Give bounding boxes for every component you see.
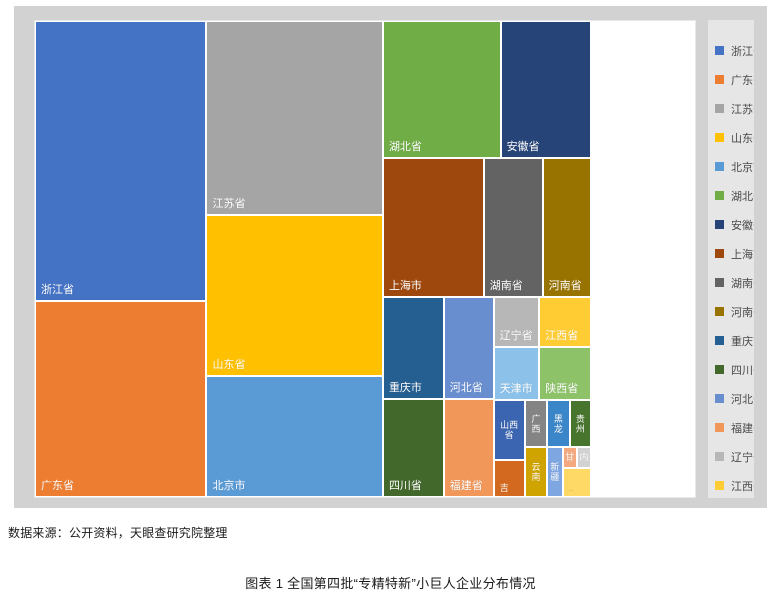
legend-item-label: 福建省 bbox=[731, 420, 754, 436]
treemap-tile[interactable]: 浙江省 bbox=[35, 21, 206, 301]
treemap-tile[interactable]: 贵州 bbox=[570, 400, 592, 447]
treemap-tile[interactable]: 山东省 bbox=[206, 215, 382, 376]
legend-swatch-icon bbox=[715, 394, 724, 403]
treemap-tile[interactable]: 河南省 bbox=[543, 158, 592, 296]
treemap-tile[interactable]: 重庆市 bbox=[383, 297, 444, 399]
plot-area: 浙江省广东省江苏省山东省北京市湖北省安徽省上海市湖南省河南省重庆市四川省河北省福… bbox=[34, 20, 696, 498]
treemap-tile[interactable]: 吉 bbox=[494, 460, 525, 497]
legend-item-label: 四川省 bbox=[731, 362, 754, 378]
treemap-tile[interactable]: 辽宁省 bbox=[494, 297, 540, 347]
legend-swatch-icon bbox=[715, 133, 724, 142]
treemap-tile-label: 湖北省 bbox=[389, 141, 422, 154]
treemap-tile-label: 山东省 bbox=[212, 359, 245, 372]
treemap-tile-label: 天津市 bbox=[500, 383, 533, 396]
legend-item[interactable]: 江苏省 bbox=[708, 94, 754, 123]
treemap-tile[interactable]: 天津市 bbox=[494, 347, 540, 401]
treemap-tile[interactable]: 河北省 bbox=[444, 297, 494, 399]
legend-item-label: 浙江省 bbox=[731, 43, 754, 59]
treemap-tile-label: 广东省 bbox=[41, 480, 74, 493]
treemap-tile[interactable]: 四川省 bbox=[383, 399, 444, 497]
chart-panel: 浙江省广东省江苏省山东省北京市湖北省安徽省上海市湖南省河南省重庆市四川省河北省福… bbox=[14, 6, 767, 508]
treemap-tile-label: 山西省 bbox=[496, 420, 523, 440]
legend-item-label: 江苏省 bbox=[731, 101, 754, 117]
legend-item[interactable]: 江西省 bbox=[708, 471, 754, 498]
legend-swatch-icon bbox=[715, 365, 724, 374]
legend-item[interactable]: 安徽省 bbox=[708, 210, 754, 239]
treemap-tile-label: 吉 bbox=[500, 483, 509, 493]
treemap-tile-label: 重庆市 bbox=[389, 382, 422, 395]
legend-item-label: 重庆市 bbox=[731, 333, 754, 349]
legend-item[interactable]: 上海市 bbox=[708, 239, 754, 268]
legend-item-label: 湖南省 bbox=[731, 275, 754, 291]
treemap-tile[interactable]: 安徽省 bbox=[501, 21, 592, 158]
legend-item[interactable]: 湖北省 bbox=[708, 181, 754, 210]
treemap-tile-label: 黑龙 bbox=[554, 414, 563, 434]
legend-item-label: 安徽省 bbox=[731, 217, 754, 233]
legend-item-label: 河北省 bbox=[731, 391, 754, 407]
legend-item[interactable]: 山东省 bbox=[708, 123, 754, 152]
treemap-chart: 浙江省广东省江苏省山东省北京市湖北省安徽省上海市湖南省河南省重庆市四川省河北省福… bbox=[35, 21, 695, 497]
treemap-tile[interactable]: 上海市 bbox=[383, 158, 484, 296]
treemap-tile-label: 江苏省 bbox=[212, 198, 245, 211]
chart-legend: 浙江省广东省江苏省山东省北京市湖北省安徽省上海市湖南省河南省重庆市四川省河北省福… bbox=[708, 20, 754, 498]
treemap-tile[interactable]: 广东省 bbox=[35, 301, 206, 497]
legend-item-label: 北京市 bbox=[731, 159, 754, 175]
treemap-tile[interactable]: 黑龙 bbox=[547, 400, 569, 447]
legend-swatch-icon bbox=[715, 191, 724, 200]
legend-list: 浙江省广东省江苏省山东省北京市湖北省安徽省上海市湖南省河南省重庆市四川省河北省福… bbox=[708, 36, 754, 498]
legend-swatch-icon bbox=[715, 162, 724, 171]
legend-swatch-icon bbox=[715, 220, 724, 229]
treemap-tile[interactable]: 云南 bbox=[525, 447, 547, 497]
legend-swatch-icon bbox=[715, 46, 724, 55]
legend-item[interactable]: 重庆市 bbox=[708, 326, 754, 355]
legend-swatch-icon bbox=[715, 307, 724, 316]
treemap-tile-label: 辽宁省 bbox=[500, 330, 533, 343]
legend-item-label: 山东省 bbox=[731, 130, 754, 146]
treemap-tile-label: 湖南省 bbox=[490, 280, 523, 293]
treemap-tile[interactable]: 内 bbox=[577, 447, 591, 468]
treemap-tile-label: 河南省 bbox=[549, 280, 582, 293]
treemap-tile[interactable]: 湖南省 bbox=[484, 158, 543, 296]
legend-item[interactable]: 广东省 bbox=[708, 65, 754, 94]
treemap-tile-label: 四川省 bbox=[389, 480, 422, 493]
treemap-tile-label: 甘 bbox=[565, 452, 574, 462]
treemap-tile[interactable]: 广西 bbox=[525, 400, 547, 447]
treemap-tile[interactable]: … bbox=[563, 468, 591, 497]
treemap-tile[interactable]: 甘 bbox=[563, 447, 577, 468]
legend-swatch-icon bbox=[715, 336, 724, 345]
treemap-tile-label: 上海市 bbox=[389, 280, 422, 293]
legend-item-label: 河南省 bbox=[731, 304, 754, 320]
legend-item[interactable]: 福建省 bbox=[708, 413, 754, 442]
legend-swatch-icon bbox=[715, 481, 724, 490]
legend-item-label: 辽宁省 bbox=[731, 449, 754, 465]
legend-item-label: 湖北省 bbox=[731, 188, 754, 204]
legend-item-label: 上海市 bbox=[731, 246, 754, 262]
treemap-tile[interactable]: 江西省 bbox=[539, 297, 591, 347]
legend-item-label: 广东省 bbox=[731, 72, 754, 88]
treemap-tile[interactable]: 陕西省 bbox=[539, 347, 591, 401]
treemap-tile[interactable]: 湖北省 bbox=[383, 21, 501, 158]
legend-item-label: 江西省 bbox=[731, 478, 754, 494]
legend-swatch-icon bbox=[715, 278, 724, 287]
legend-swatch-icon bbox=[715, 75, 724, 84]
legend-swatch-icon bbox=[715, 423, 724, 432]
treemap-tile[interactable]: 北京市 bbox=[206, 376, 382, 497]
legend-item[interactable]: 四川省 bbox=[708, 355, 754, 384]
legend-swatch-icon bbox=[715, 452, 724, 461]
legend-swatch-icon bbox=[715, 104, 724, 113]
treemap-tile-label: 云南 bbox=[531, 462, 540, 482]
treemap-tile-label: 内 bbox=[580, 452, 589, 462]
legend-swatch-icon bbox=[715, 249, 724, 258]
source-note: 数据来源：公开资料，天眼查研究院整理 bbox=[8, 524, 228, 541]
treemap-tile-label: 福建省 bbox=[450, 480, 483, 493]
legend-item[interactable]: 辽宁省 bbox=[708, 442, 754, 471]
legend-item[interactable]: 河北省 bbox=[708, 384, 754, 413]
legend-item[interactable]: 湖南省 bbox=[708, 268, 754, 297]
figure-caption: 图表 1 全国第四批“专精特新”小巨人企业分布情况 bbox=[0, 573, 781, 592]
treemap-tile-label: 河北省 bbox=[450, 382, 483, 395]
treemap-tile-label: 安徽省 bbox=[507, 141, 540, 154]
treemap-tile[interactable]: 新疆 bbox=[547, 447, 563, 497]
treemap-tile-label: 陕西省 bbox=[545, 383, 578, 396]
treemap-tile[interactable]: 江苏省 bbox=[206, 21, 382, 215]
treemap-tile-label: 浙江省 bbox=[41, 284, 74, 297]
treemap-tile-label: 新疆 bbox=[550, 462, 559, 482]
treemap-tile[interactable]: 福建省 bbox=[444, 399, 494, 497]
legend-item[interactable]: 浙江省 bbox=[708, 36, 754, 65]
legend-item[interactable]: 河南省 bbox=[708, 297, 754, 326]
treemap-tile-label: 广西 bbox=[531, 414, 540, 434]
treemap-tile-label: 北京市 bbox=[212, 480, 245, 493]
legend-item[interactable]: 北京市 bbox=[708, 152, 754, 181]
treemap-tile[interactable]: 山西省 bbox=[494, 400, 525, 460]
page-root: 浙江省广东省江苏省山东省北京市湖北省安徽省上海市湖南省河南省重庆市四川省河北省福… bbox=[0, 0, 781, 600]
treemap-tile-label: … bbox=[569, 487, 574, 493]
treemap-tile-label: 贵州 bbox=[576, 414, 585, 434]
treemap-tile-label: 江西省 bbox=[545, 330, 578, 343]
